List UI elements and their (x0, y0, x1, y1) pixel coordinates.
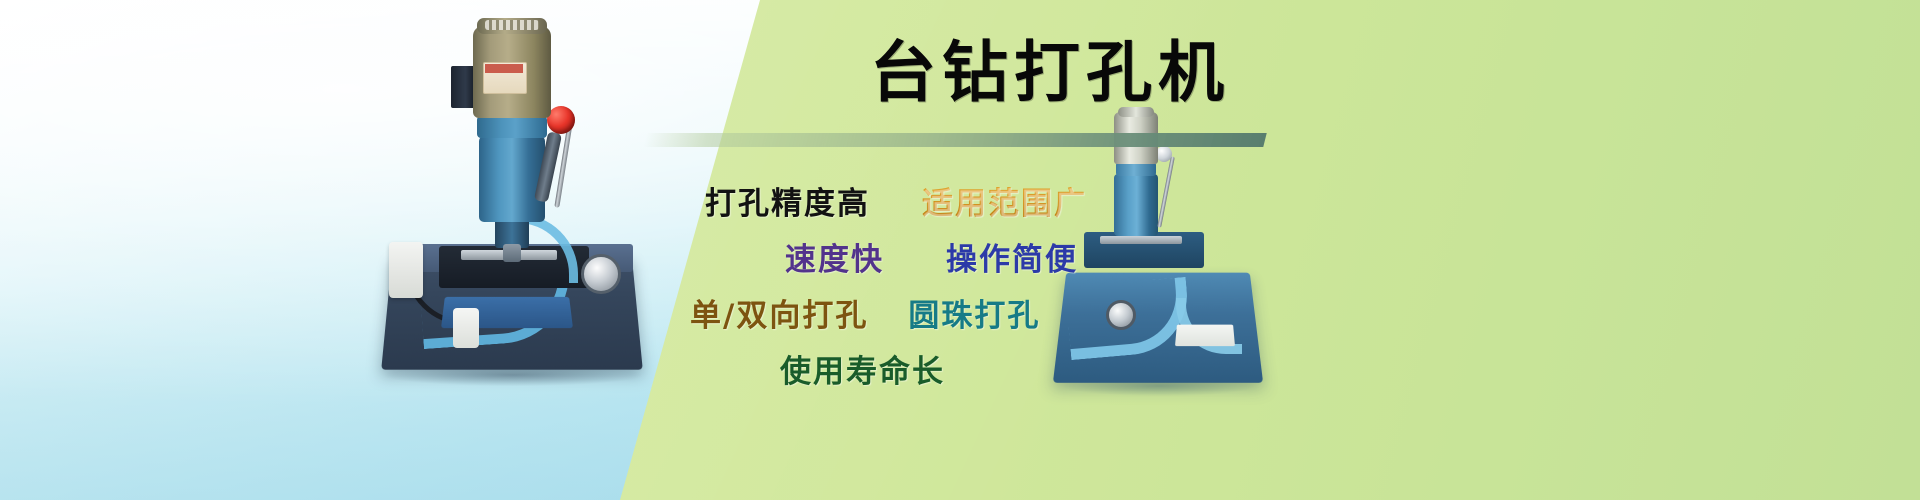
control-box (389, 242, 423, 298)
hand-wheel (581, 254, 621, 294)
control-box-secondary (453, 308, 479, 348)
feature-long-life: 使用寿命长 (780, 346, 945, 391)
product-banner: 台钻打孔机 打孔精度高 适用范围广 速度快 操作简便 单/双向打孔 圆珠打孔 使… (0, 0, 1920, 500)
feature-easy-operate: 操作简便 (946, 234, 1078, 279)
motor-vent (485, 20, 539, 30)
feature-list: 打孔精度高 适用范围广 速度快 操作简便 单/双向打孔 圆珠打孔 使用寿命长 (620, 172, 1320, 422)
motor-nameplate-strip (485, 64, 523, 73)
product-photo-left (365, 18, 655, 378)
feed-lever-knob (547, 106, 575, 134)
feature-fast-speed: 速度快 (785, 234, 884, 279)
feature-row-1: 打孔精度高 适用范围广 (620, 172, 1320, 228)
feature-precision: 打孔精度高 (705, 178, 870, 223)
title-divider-rule (643, 133, 1266, 147)
feature-row-2: 速度快 操作简便 (620, 228, 1320, 284)
machine-head-body (479, 136, 545, 222)
feature-wide-range: 适用范围广 (922, 178, 1087, 223)
feature-row-4: 使用寿命长 (620, 340, 1320, 396)
feed-lever-knob-right (1156, 146, 1172, 162)
machine-head-neck (477, 116, 547, 138)
drill-chuck (503, 244, 521, 262)
junction-box (451, 66, 475, 108)
page-title: 台钻打孔机 (700, 32, 1400, 112)
feature-row-3: 单/双向打孔 圆珠打孔 (620, 284, 1320, 340)
feature-ball-drilling: 圆珠打孔 (908, 290, 1040, 335)
banner-title-wrapper: 台钻打孔机 (700, 32, 1400, 112)
feature-single-double: 单/双向打孔 (690, 290, 868, 335)
